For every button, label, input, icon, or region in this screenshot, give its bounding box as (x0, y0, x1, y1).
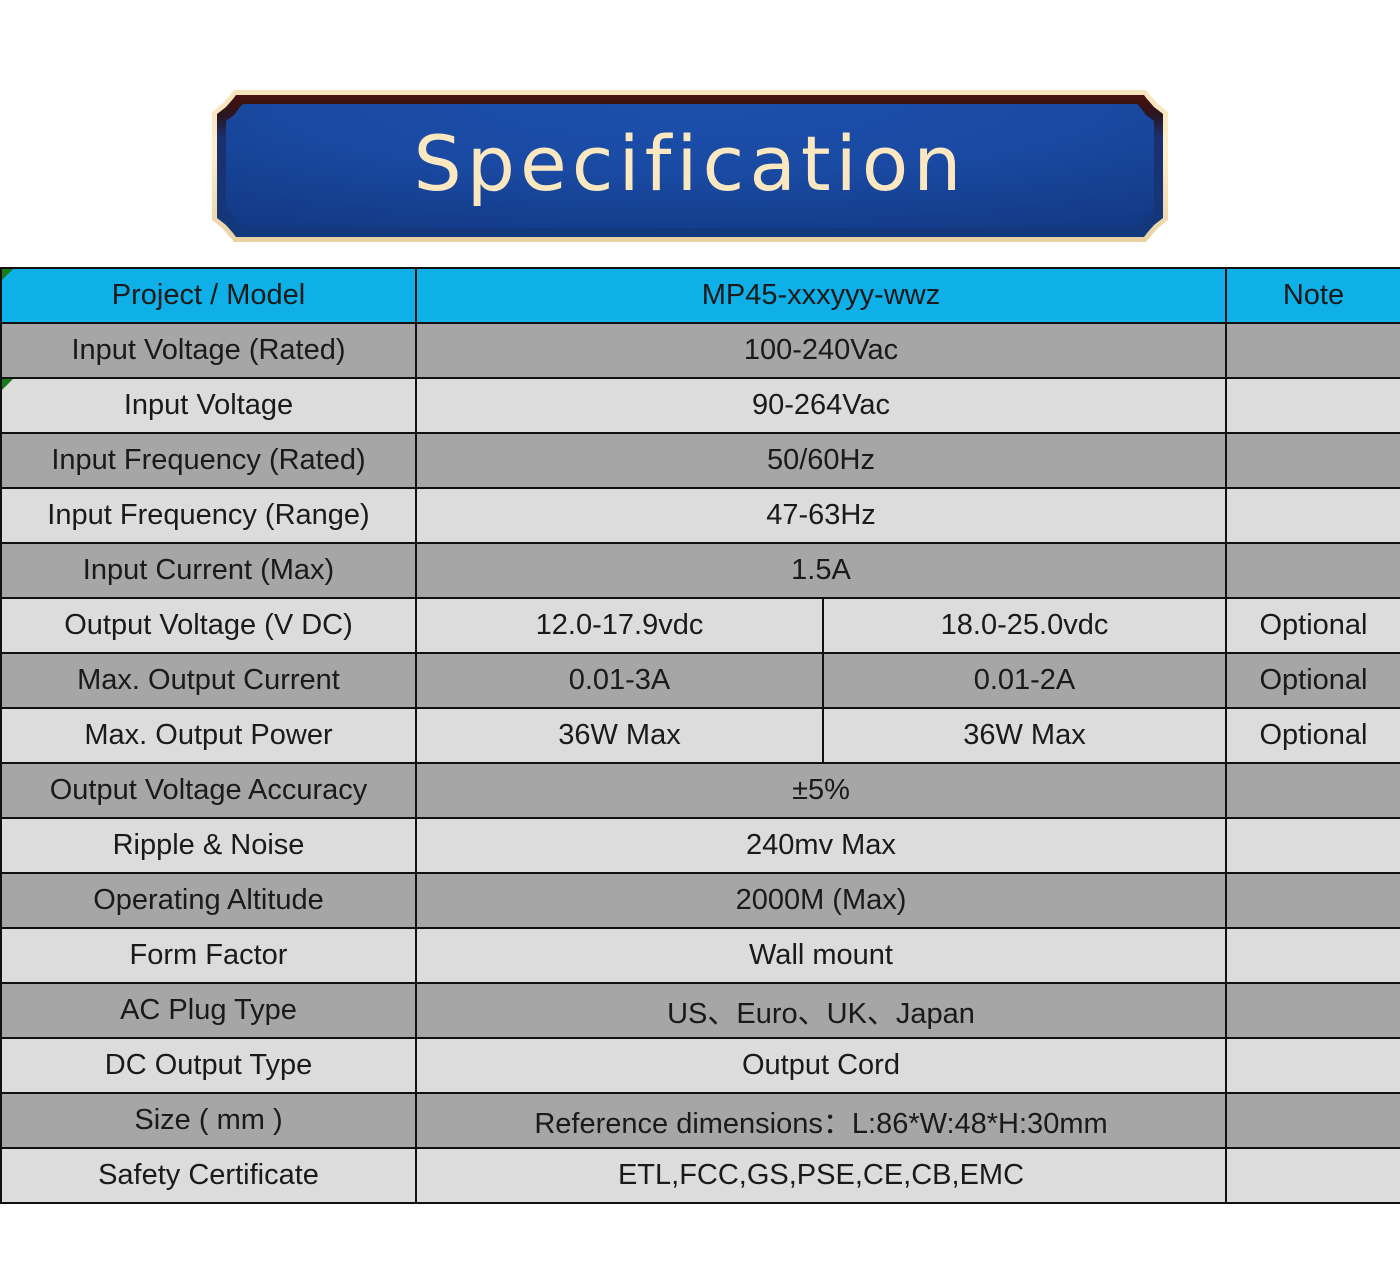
spec-value-cell: 100-240Vac (416, 323, 1226, 378)
spec-note-cell (1226, 543, 1400, 598)
spec-value-cell: 90-264Vac (416, 378, 1226, 433)
spec-label-cell: Safety Certificate (1, 1148, 416, 1203)
spec-note-cell: Optional (1226, 653, 1400, 708)
spec-note-cell: Optional (1226, 708, 1400, 763)
spec-label-cell: Input Current (Max) (1, 543, 416, 598)
spec-value-cell: 240mv Max (416, 818, 1226, 873)
spec-label-cell: Form Factor (1, 928, 416, 983)
comment-flag-icon (2, 269, 13, 280)
banner-outer-border: Specification (212, 90, 1168, 242)
spec-value-cell: 1.5A (416, 543, 1226, 598)
table-row: Input Frequency (Rated)50/60Hz (1, 433, 1400, 488)
comment-flag-icon (2, 379, 13, 390)
table-row: DC Output TypeOutput Cord (1, 1038, 1400, 1093)
header-cell-model: MP45-xxxyyy-wwz (416, 268, 1226, 323)
spec-value-cell: 47-63Hz (416, 488, 1226, 543)
spec-note-cell (1226, 873, 1400, 928)
specification-table: Project / Model MP45-xxxyyy-wwz Note Inp… (0, 267, 1400, 1204)
spec-label-cell: Ripple & Noise (1, 818, 416, 873)
table-row: Form FactorWall mount (1, 928, 1400, 983)
spec-label-cell: AC Plug Type (1, 983, 416, 1038)
spec-value-cell-secondary: 0.01-2A (823, 653, 1226, 708)
spec-value-cell-primary: 12.0-17.9vdc (416, 598, 823, 653)
spec-label-cell: Size ( mm ) (1, 1093, 416, 1148)
spec-note-cell (1226, 1148, 1400, 1203)
spec-note-cell (1226, 378, 1400, 433)
spec-value-cell-primary: 36W Max (416, 708, 823, 763)
table-row: Max. Output Current0.01-3A0.01-2AOptiona… (1, 653, 1400, 708)
specification-table-body: Project / Model MP45-xxxyyy-wwz Note Inp… (1, 268, 1400, 1203)
spec-value-cell: US、Euro、UK、Japan (416, 983, 1226, 1038)
table-row: Operating Altitude2000M (Max) (1, 873, 1400, 928)
table-row: AC Plug TypeUS、Euro、UK、Japan (1, 983, 1400, 1038)
spec-value-cell: 2000M (Max) (416, 873, 1226, 928)
table-row: Max. Output Power36W Max36W MaxOptional (1, 708, 1400, 763)
spec-note-cell (1226, 488, 1400, 543)
spec-label-cell: Max. Output Current (1, 653, 416, 708)
table-row: Output Voltage (V DC)12.0-17.9vdc18.0-25… (1, 598, 1400, 653)
table-row: Input Voltage90-264Vac (1, 378, 1400, 433)
spec-label-cell: Input Frequency (Rated) (1, 433, 416, 488)
spec-note-cell (1226, 1038, 1400, 1093)
header-cell-project-model: Project / Model (1, 268, 416, 323)
banner-inner-rim: Specification (217, 95, 1163, 237)
spec-value-cell: Wall mount (416, 928, 1226, 983)
spec-label-cell: Output Voltage (V DC) (1, 598, 416, 653)
header-cell-note: Note (1226, 268, 1400, 323)
table-row: Input Voltage (Rated)100-240Vac (1, 323, 1400, 378)
spec-note-cell: Optional (1226, 598, 1400, 653)
spec-label-cell: Input Voltage (1, 378, 416, 433)
spec-value-cell-secondary: 36W Max (823, 708, 1226, 763)
spec-label-cell: Output Voltage Accuracy (1, 763, 416, 818)
spec-label-cell: Input Voltage (Rated) (1, 323, 416, 378)
spec-label-cell: Input Frequency (Range) (1, 488, 416, 543)
spec-value-cell: ETL,FCC,GS,PSE,CE,CB,EMC (416, 1148, 1226, 1203)
spec-note-cell (1226, 983, 1400, 1038)
spec-note-cell (1226, 1093, 1400, 1148)
table-row: Size ( mm )Reference dimensions：L:86*W:4… (1, 1093, 1400, 1148)
table-row: Safety CertificateETL,FCC,GS,PSE,CE,CB,E… (1, 1148, 1400, 1203)
spec-value-cell: Output Cord (416, 1038, 1226, 1093)
table-row: Output Voltage Accuracy±5% (1, 763, 1400, 818)
table-header-row: Project / Model MP45-xxxyyy-wwz Note (1, 268, 1400, 323)
specification-banner: Specification (212, 90, 1168, 242)
spec-label-text: Input Voltage (124, 389, 293, 421)
spec-value-cell-primary: 0.01-3A (416, 653, 823, 708)
page-title: Specification (414, 126, 967, 206)
table-row: Ripple & Noise240mv Max (1, 818, 1400, 873)
banner-face: Specification (226, 104, 1154, 228)
spec-note-cell (1226, 928, 1400, 983)
spec-note-cell (1226, 818, 1400, 873)
spec-note-cell (1226, 763, 1400, 818)
spec-label-cell: Max. Output Power (1, 708, 416, 763)
header-label-project-model: Project / Model (112, 279, 305, 311)
spec-value-cell: Reference dimensions：L:86*W:48*H:30mm (416, 1093, 1226, 1148)
spec-value-cell-secondary: 18.0-25.0vdc (823, 598, 1226, 653)
table-row: Input Frequency (Range)47-63Hz (1, 488, 1400, 543)
spec-note-cell (1226, 433, 1400, 488)
table-row: Input Current (Max)1.5A (1, 543, 1400, 598)
spec-value-cell: ±5% (416, 763, 1226, 818)
spec-label-cell: DC Output Type (1, 1038, 416, 1093)
spec-label-cell: Operating Altitude (1, 873, 416, 928)
spec-value-cell: 50/60Hz (416, 433, 1226, 488)
spec-note-cell (1226, 323, 1400, 378)
